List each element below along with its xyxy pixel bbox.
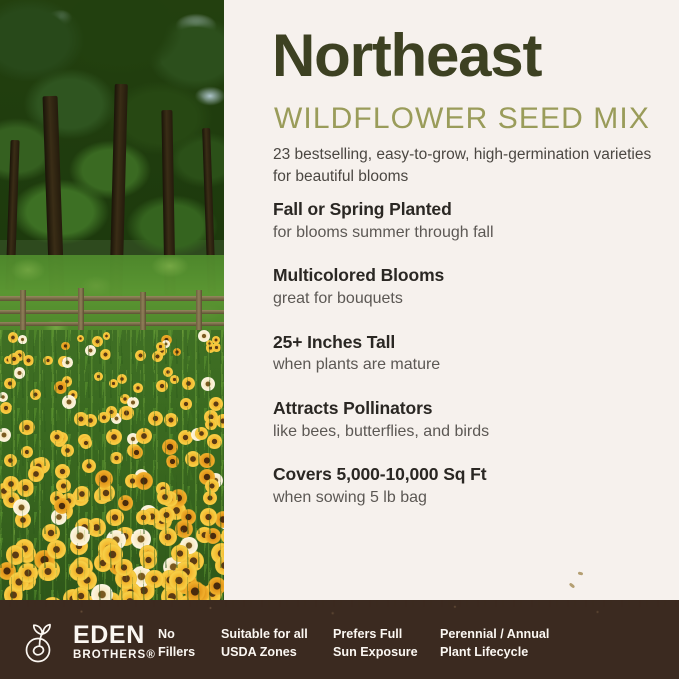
feature-title: 25+ Inches Tall <box>273 331 673 354</box>
page-title: Northeast <box>272 26 541 86</box>
footer-benefit-line2: Fillers <box>158 643 195 661</box>
brand-logo-text: EDEN BROTHERS® <box>73 623 156 662</box>
photo-fence-post <box>140 292 146 332</box>
product-photo <box>0 0 224 612</box>
footer-benefit-line1: No <box>158 625 195 643</box>
feature-subtext: when plants are mature <box>273 354 673 376</box>
footer-benefit-item: Suitable for allUSDA Zones <box>221 625 308 662</box>
feature-item: Covers 5,000-10,000 Sq Ftwhen sowing 5 l… <box>273 463 673 508</box>
sprout-seedling-icon <box>20 620 64 664</box>
feature-title: Multicolored Blooms <box>273 264 673 287</box>
feature-subtext: great for bouquets <box>273 288 673 310</box>
brand-logo[interactable]: EDEN BROTHERS® <box>20 620 156 664</box>
photo-fence-post <box>78 288 84 332</box>
product-subtitle: WILDFLOWER SEED MIX <box>274 104 650 134</box>
footer-benefit-line1: Prefers Full <box>333 625 418 643</box>
feature-title: Fall or Spring Planted <box>273 198 673 221</box>
footer-benefit-line2: Plant Lifecycle <box>440 643 549 661</box>
footer-benefit-item: Prefers FullSun Exposure <box>333 625 418 662</box>
feature-item: Multicolored Bloomsgreat for bouquets <box>273 264 673 309</box>
feature-item: 25+ Inches Tallwhen plants are mature <box>273 331 673 376</box>
footer-benefit-line2: USDA Zones <box>221 643 308 661</box>
footer-benefit-line1: Perennial / Annual <box>440 625 549 643</box>
footer-benefit-item: NoFillers <box>158 625 195 662</box>
feature-item: Attracts Pollinatorslike bees, butterfli… <box>273 397 673 442</box>
footer-soil-speckle <box>0 600 679 620</box>
photo-fence-post <box>20 290 26 332</box>
feature-title: Covers 5,000-10,000 Sq Ft <box>273 463 673 486</box>
product-feature-card: Northeast WILDFLOWER SEED MIX 23 bestsel… <box>0 0 679 679</box>
footer-benefit-line2: Sun Exposure <box>333 643 418 661</box>
feature-title: Attracts Pollinators <box>273 397 673 420</box>
photo-fence-rail <box>0 322 224 326</box>
brand-name-secondary: BROTHERS® <box>73 650 156 662</box>
photo-grass-blades <box>0 330 224 612</box>
feature-subtext: when sowing 5 lb bag <box>273 487 673 509</box>
footer-benefit-line1: Suitable for all <box>221 625 308 643</box>
feature-subtext: like bees, butterflies, and birds <box>273 421 673 443</box>
feature-item: Fall or Spring Plantedfor blooms summer … <box>273 198 673 243</box>
photo-fence-post <box>196 290 202 332</box>
product-description: 23 bestselling, easy-to-grow, high-germi… <box>273 144 673 189</box>
feature-subtext: for blooms summer through fall <box>273 222 673 244</box>
content-column: Northeast WILDFLOWER SEED MIX 23 bestsel… <box>224 0 679 612</box>
brand-name: EDEN <box>73 623 156 648</box>
photo-fence-rail <box>0 296 224 301</box>
footer-benefit-item: Perennial / AnnualPlant Lifecycle <box>440 625 549 662</box>
feature-list: Fall or Spring Plantedfor blooms summer … <box>273 198 673 509</box>
photo-fence-rail <box>0 310 224 314</box>
